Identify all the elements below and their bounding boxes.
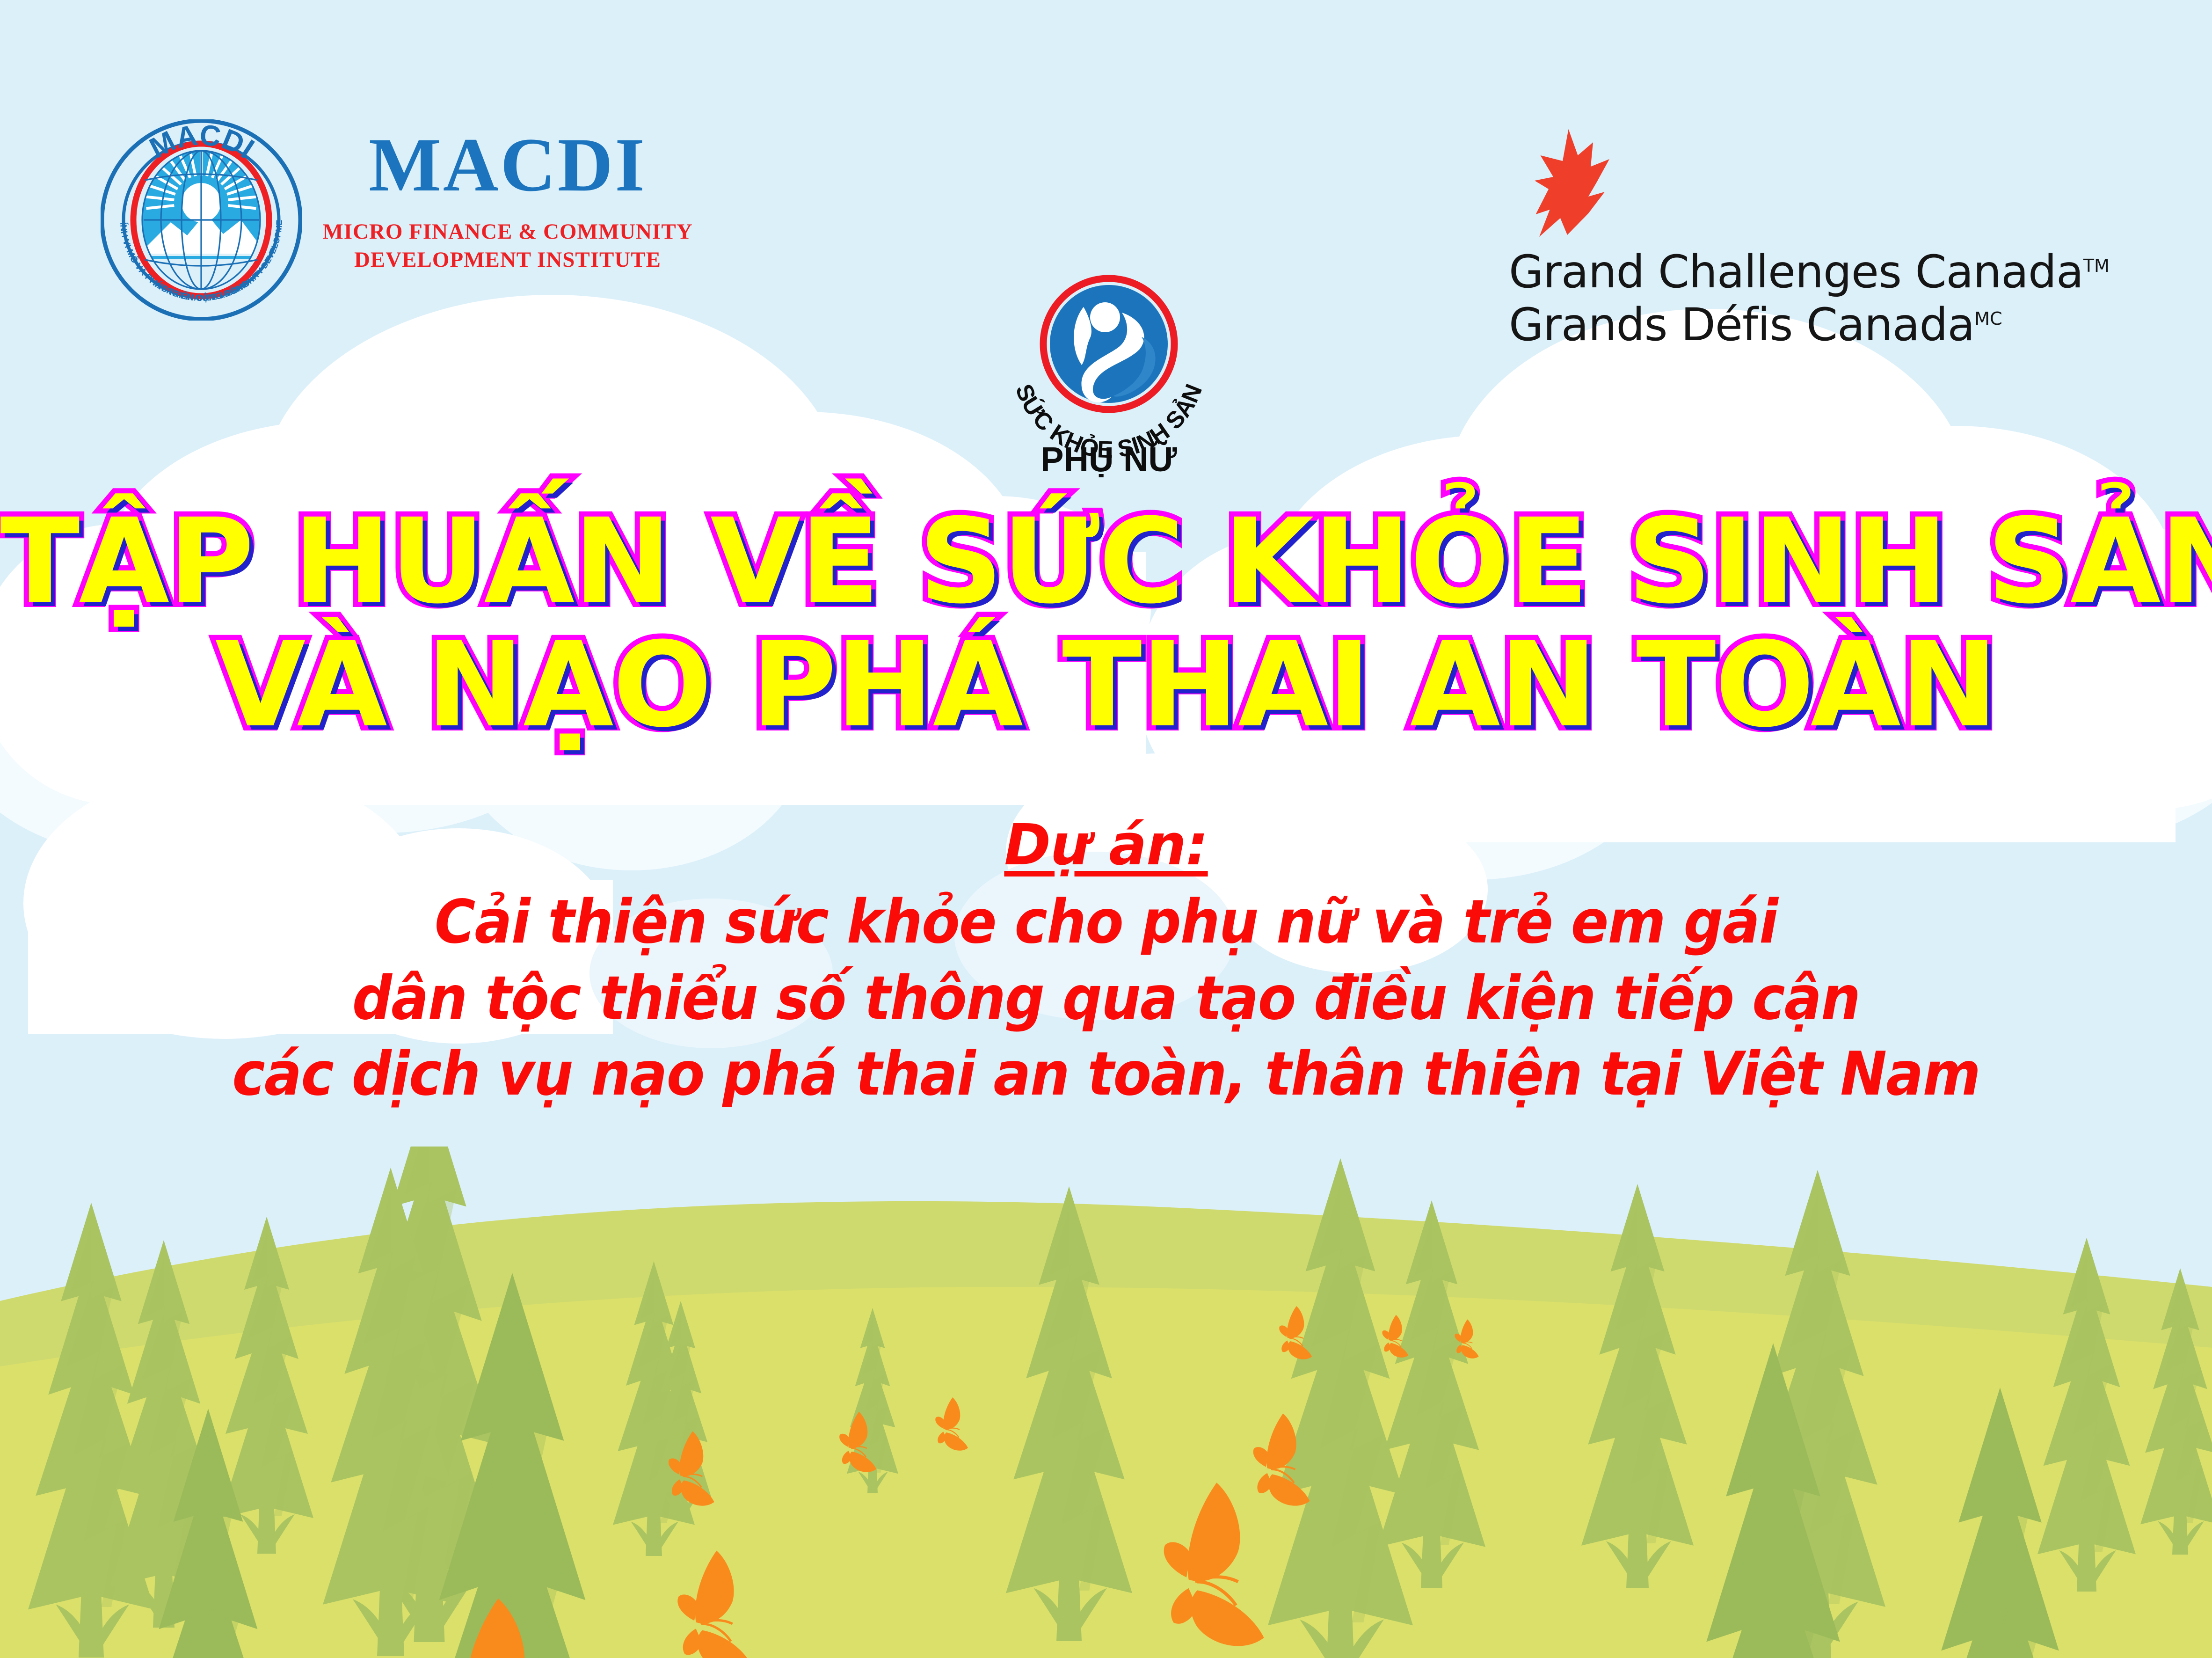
project-line-3: các dịch vụ nạo phá thai an toàn, thân t… xyxy=(77,1037,2134,1113)
grand-challenges-canada-logo: Grand Challenges CanadaTM Grands Défis C… xyxy=(1497,126,2115,337)
macdi-wordmark: MACDI MICRO FINANCE & COMMUNITY DEVELOPM… xyxy=(316,129,699,274)
poster-canvas: MACDI VIỆN TÀI CHÍNH VI MÔ VÀ PHÁT TRIỂN… xyxy=(0,0,2212,1658)
butterfly-layer xyxy=(0,1147,2212,1658)
poster-title: TẬP HUẤN VỀ SỨC KHỎE SINH SẢN VÀ NẠO PHÁ… xyxy=(0,503,2212,744)
project-line-2: dân tộc thiểu số thông qua tạo điều kiện… xyxy=(77,961,2134,1037)
title-line-1: TẬP HUẤN VỀ SỨC KHỎE SINH SẢN xyxy=(0,503,2212,620)
macdi-subtitle: MICRO FINANCE & COMMUNITY DEVELOPMENT IN… xyxy=(316,218,699,274)
macdi-subtitle-line-2: DEVELOPMENT INSTITUTE xyxy=(316,246,699,274)
project-label: Dự án: xyxy=(0,814,2212,877)
gcc-tm-mark: TM xyxy=(2083,256,2110,276)
reproductive-health-bottom-text: PHỤ NỮ xyxy=(1041,440,1177,477)
macdi-name: MACDI xyxy=(316,129,699,202)
macdi-seal-icon: MACDI VIỆN TÀI CHÍNH VI MÔ VÀ PHÁT TRIỂN… xyxy=(101,119,302,321)
gcc-line-french-text: Grands Défis Canada xyxy=(1509,299,1974,351)
project-description: Dự án: Cải thiện sức khỏe cho phụ nữ và … xyxy=(0,814,2212,1113)
reproductive-health-icon: SỨC KHỎE SINH SẢN PHỤ NỮ xyxy=(1001,262,1216,477)
maple-leaf-icon xyxy=(1523,126,1663,239)
project-lines: Cải thiện sức khỏe cho phụ nữ và trẻ em … xyxy=(0,884,2212,1113)
project-line-1: Cải thiện sức khỏe cho phụ nữ và trẻ em … xyxy=(77,884,2134,961)
grand-challenges-wordmark: Grand Challenges CanadaTM Grands Défis C… xyxy=(1509,246,2112,352)
logo-row: MACDI VIỆN TÀI CHÍNH VI MÔ VÀ PHÁT TRIỂN… xyxy=(0,0,2212,496)
title-line-2: VÀ NẠO PHÁ THAI AN TOÀN xyxy=(0,627,2212,744)
gcc-line-french: Grands Défis CanadaMC xyxy=(1509,299,2112,351)
gcc-line-english-text: Grand Challenges Canada xyxy=(1509,246,2083,298)
reproductive-health-logo: SỨC KHỎE SINH SẢN PHỤ NỮ xyxy=(1001,262,1216,477)
gcc-line-english: Grand Challenges CanadaTM xyxy=(1509,246,2112,299)
gcc-mc-mark: MC xyxy=(1974,308,2002,329)
macdi-subtitle-line-1: MICRO FINANCE & COMMUNITY xyxy=(316,218,699,246)
macdi-logo: MACDI VIỆN TÀI CHÍNH VI MÔ VÀ PHÁT TRIỂN… xyxy=(101,119,699,321)
